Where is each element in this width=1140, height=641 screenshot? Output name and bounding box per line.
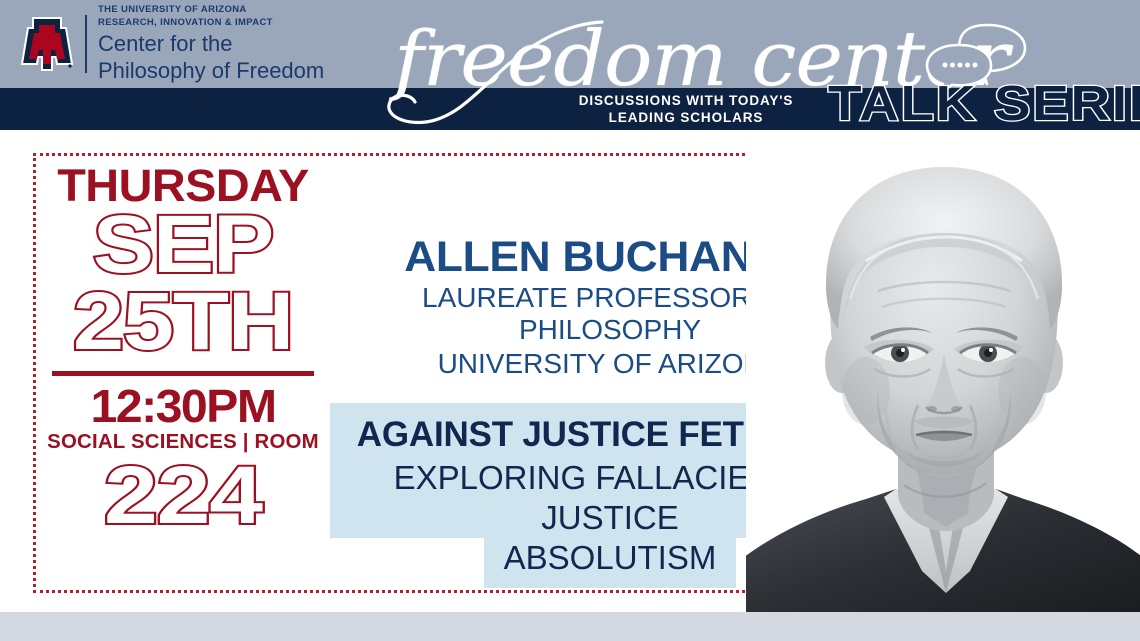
tagline: DISCUSSIONS WITH TODAY'S LEADING SCHOLAR… <box>566 93 806 126</box>
tagline-line-2: LEADING SCHOLARS <box>566 110 806 127</box>
series-title: TALK SERIES <box>828 78 1140 130</box>
ua-block-a-icon <box>20 16 74 72</box>
center-name-line-2: Philosophy of Freedom <box>98 59 324 84</box>
university-name-line-2: RESEARCH, INNOVATION & IMPACT <box>98 17 324 29</box>
talk-subtitle-line-2: ABSOLUTISM <box>484 538 737 588</box>
event-day-number: 25TH <box>21 283 346 361</box>
event-flyer: THE UNIVERSITY OF ARIZONA RESEARCH, INNO… <box>0 0 1140 641</box>
tagline-line-1: DISCUSSIONS WITH TODAY'S <box>566 93 806 110</box>
center-name-line-1: Center for the <box>98 32 324 57</box>
event-time: 12:30PM <box>31 382 336 430</box>
event-room-number: 224 <box>12 456 354 536</box>
event-date-block: THURSDAY SEP 25TH 12:30PM SOCIAL SCIENCE… <box>38 163 328 536</box>
bottom-bar <box>0 612 1140 641</box>
logo-divider <box>85 15 87 73</box>
date-divider-rule <box>52 371 314 376</box>
logo-text-group: THE UNIVERSITY OF ARIZONA RESEARCH, INNO… <box>98 4 324 83</box>
university-name-line-1: THE UNIVERSITY OF ARIZONA <box>98 4 324 16</box>
speaker-portrait <box>746 141 1140 641</box>
university-logo-lockup: THE UNIVERSITY OF ARIZONA RESEARCH, INNO… <box>20 8 324 80</box>
event-month: SEP <box>21 207 346 283</box>
